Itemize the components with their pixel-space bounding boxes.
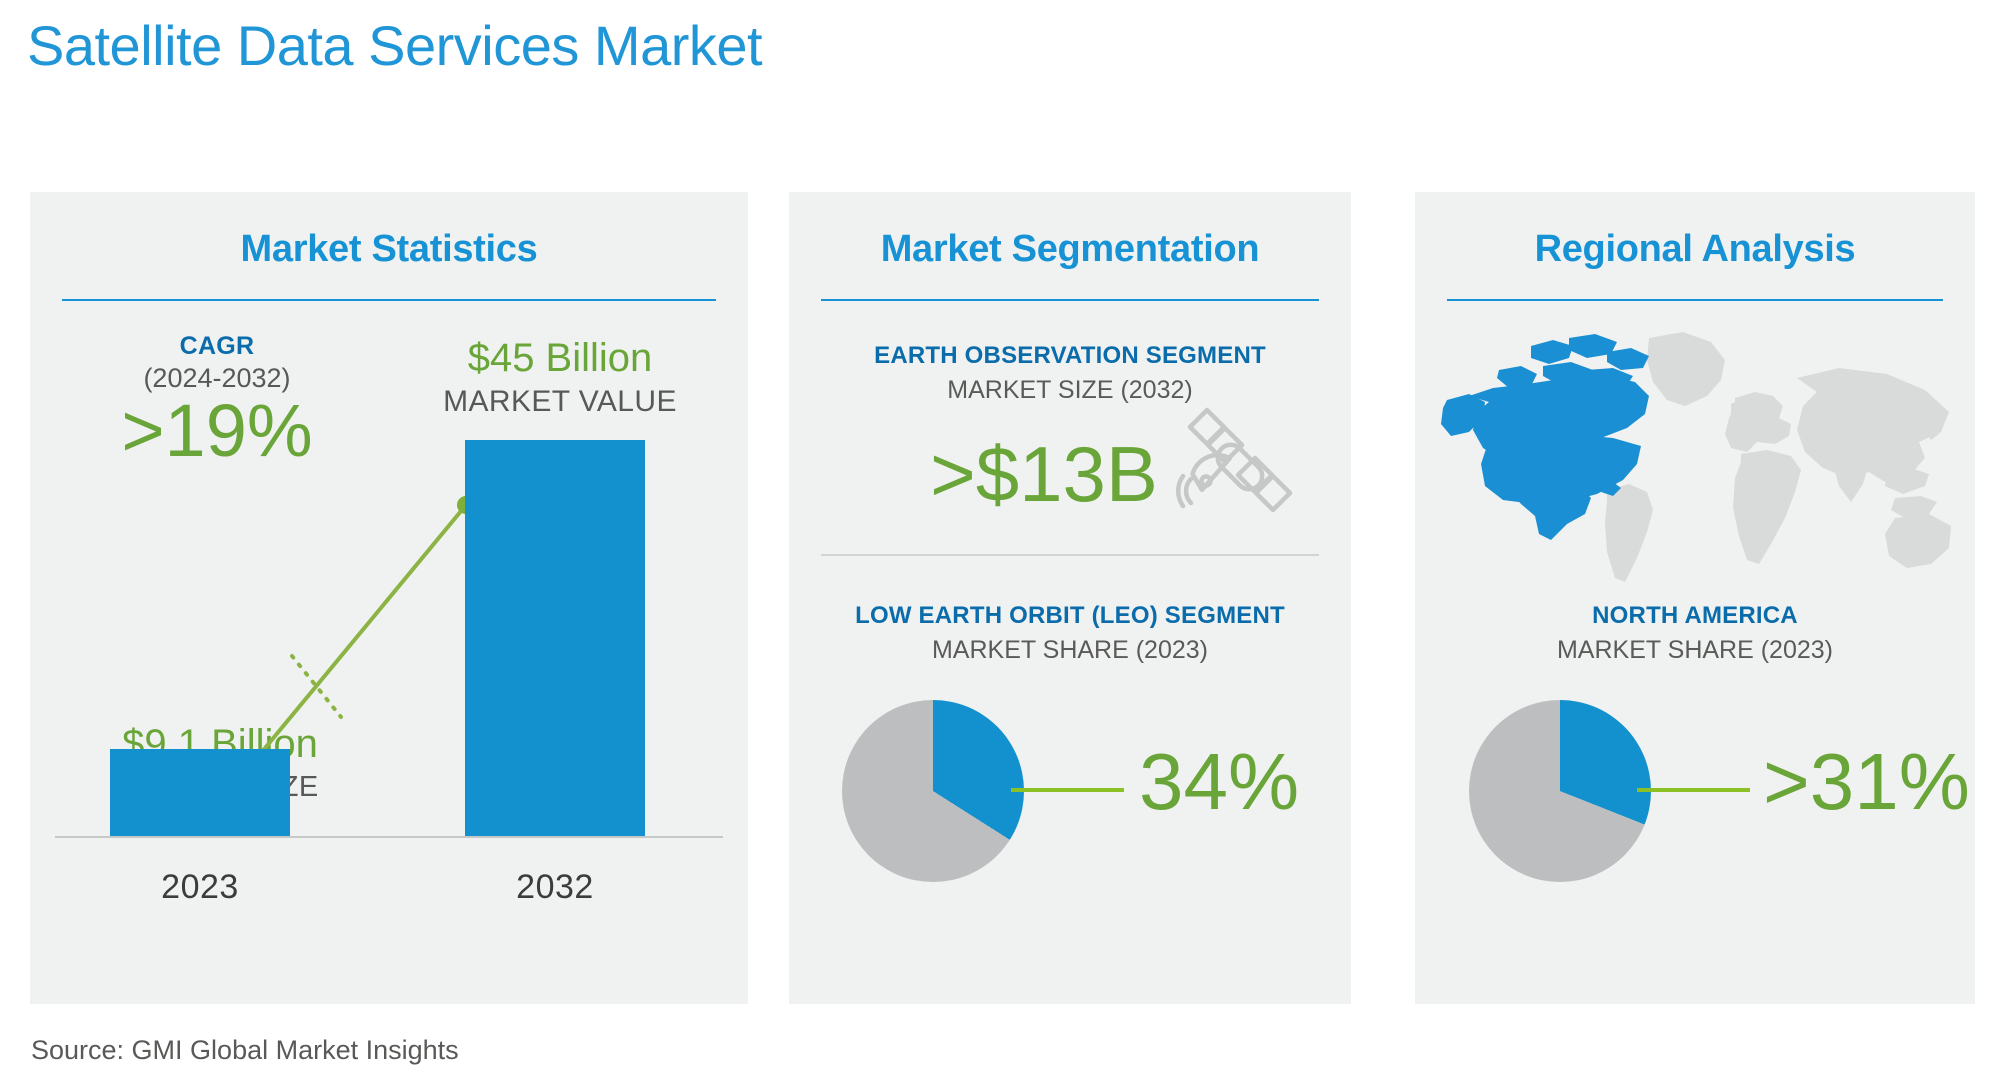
map-base-landmasses [1605,332,1951,582]
market-value-2032: $45 Billion [410,336,710,381]
panel-title-market-statistics: Market Statistics [30,228,748,271]
market-value-2032-caption: MARKET VALUE [410,385,710,419]
axis-label-2023: 2023 [110,868,290,907]
panel-regional-analysis: Regional Analysis [1415,192,1975,1004]
cagr-block: CAGR (2024-2032) >19% [102,332,332,466]
leo-block: LOW EARTH ORBIT (LEO) SEGMENT MARKET SHA… [789,602,1351,665]
axis-label-2032: 2032 [465,868,645,907]
segment-divider [821,554,1319,556]
north-america-pie-chart [1469,700,1651,882]
region-pie-leader-line [1637,788,1750,792]
leo-share-value: 34% [1139,742,1299,822]
market-value-2032-block: $45 Billion MARKET VALUE [410,336,710,419]
leo-kicker: LOW EARTH ORBIT (LEO) SEGMENT [789,602,1351,630]
panel-title-divider [821,299,1319,301]
panel-market-statistics: Market Statistics CAGR (2024-2032) >19% … [30,192,748,1004]
satellite-icon [1165,407,1295,535]
region-share-value: >31% [1763,742,1970,822]
page-title: Satellite Data Services Market [27,13,762,78]
chart-axis-line [55,836,723,838]
panel-title-divider [1447,299,1943,301]
earth-observation-block: EARTH OBSERVATION SEGMENT MARKET SIZE (2… [789,342,1351,531]
earth-observation-subkicker: MARKET SIZE (2032) [789,376,1351,405]
leo-pie-row: 34% [789,692,1351,912]
bar-2023 [110,749,290,837]
world-map [1435,322,1957,598]
leo-subkicker: MARKET SHARE (2023) [789,636,1351,665]
panel-title-regional-analysis: Regional Analysis [1415,228,1975,271]
cagr-value: >19% [102,396,332,466]
panel-market-segmentation: Market Segmentation EARTH OBSERVATION SE… [789,192,1351,1004]
earth-observation-value: >$13B [930,435,1158,513]
panel-title-market-segmentation: Market Segmentation [789,228,1351,271]
bar-2032 [465,440,645,837]
leo-pie-chart [842,700,1024,882]
leo-pie-leader-line [1011,788,1124,792]
earth-observation-kicker: EARTH OBSERVATION SEGMENT [789,342,1351,370]
region-subkicker: MARKET SHARE (2023) [1415,636,1975,665]
region-block: NORTH AMERICA MARKET SHARE (2023) [1415,602,1975,665]
cagr-label: CAGR [102,332,332,361]
region-pie-row: >31% [1415,692,1975,912]
panel-title-divider [62,299,716,301]
source-note: Source: GMI Global Market Insights [31,1035,459,1066]
region-kicker: NORTH AMERICA [1415,602,1975,630]
